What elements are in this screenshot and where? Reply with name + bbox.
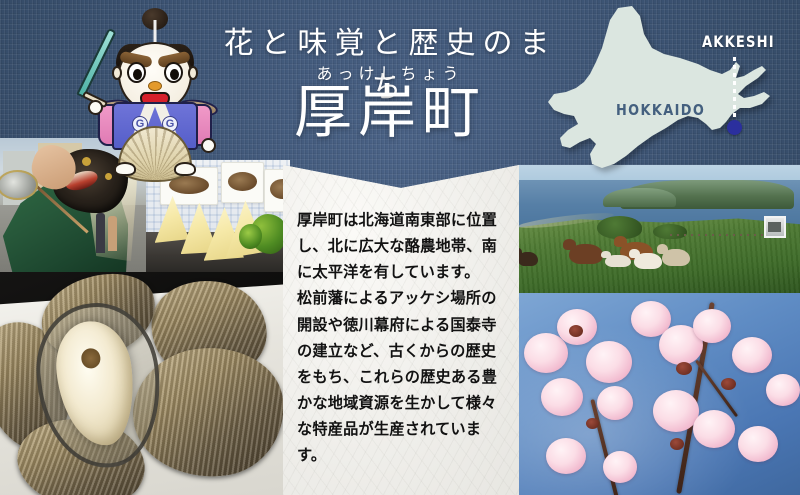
bystander (96, 213, 105, 253)
pasture-photo (518, 165, 800, 293)
page-title: 厚岸町 (210, 82, 570, 143)
mascot-nose (148, 81, 162, 91)
map-location-pin (727, 120, 742, 135)
poster-canvas: 花と味覚と歴史のまち あっけしちょう 厚岸町 G G (0, 0, 800, 495)
mascot-ear-left (112, 66, 122, 80)
grazing-animal (518, 252, 538, 266)
sakura-blossom (586, 341, 632, 383)
grazing-animal (605, 255, 630, 268)
sakura-photo (518, 293, 800, 495)
sakura-blossom (693, 309, 731, 343)
sakura-bud (721, 378, 736, 390)
sakura-blossom (693, 410, 735, 448)
map-label-akkeshi: AKKESHI (702, 32, 775, 51)
mascot-foot-right (174, 162, 196, 176)
pasture-signboard (764, 216, 786, 238)
grazing-animal (569, 244, 603, 263)
map-pointer-line (733, 57, 736, 123)
sakura-blossom (766, 374, 800, 406)
grazing-animal (662, 249, 690, 266)
mascot-eye-right (164, 62, 183, 83)
sakura-blossom (597, 386, 633, 420)
grazing-animal (634, 253, 662, 268)
festival-ornament (82, 157, 91, 166)
mascot-ear-right (188, 66, 198, 80)
sakura-blossom (541, 378, 583, 416)
pasture-fence (670, 234, 766, 236)
mascot-character: G G (96, 4, 214, 176)
bystander (108, 216, 117, 251)
info-panel: 厚岸町は北海道南東部に位置し、北に広大な酪農地帯、南に太平洋を有しています。 松… (283, 165, 519, 495)
sakura-bud (586, 418, 599, 429)
pasture-shrub (653, 224, 687, 239)
cheese-package (221, 162, 264, 202)
mascot-hand-left (88, 100, 103, 115)
festival-bell (0, 170, 38, 199)
pasture-headland (603, 188, 676, 207)
info-panel-body: 厚岸町は北海道南東部に位置し、北に広大な酪農地帯、南に太平洋を有しています。 松… (297, 207, 505, 468)
hokkaido-map: HOKKAIDO (530, 0, 800, 178)
map-label-hokkaido: HOKKAIDO (616, 101, 705, 119)
mascot-hand-right (201, 138, 216, 153)
sakura-blossom (603, 451, 637, 483)
sakura-blossom (524, 333, 568, 373)
mascot-foot-left (114, 162, 136, 176)
mascot-eye-left (127, 62, 146, 83)
hokkaido-island-shape (540, 4, 792, 174)
sakura-bud (676, 362, 692, 375)
oyster-photo (0, 272, 290, 495)
parsley-garnish (250, 214, 287, 254)
